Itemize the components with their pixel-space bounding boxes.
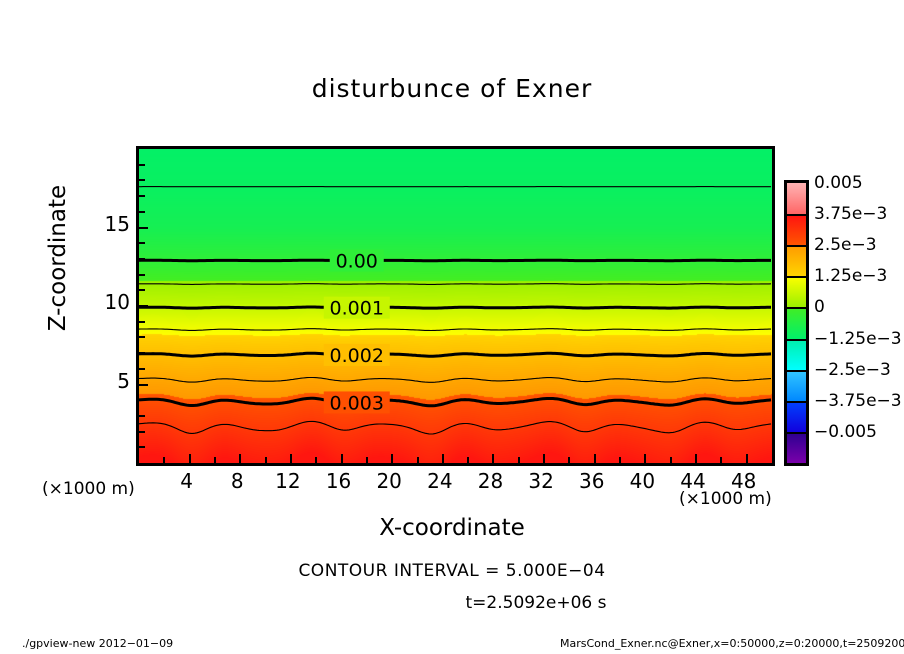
y-axis-minor-tick [139, 352, 145, 354]
y-axis-minor-tick [139, 274, 145, 276]
contour-line [139, 329, 771, 331]
colorbar-band-divider [787, 307, 806, 309]
page-title: disturbunce of Exner [0, 74, 904, 103]
x-axis-title: X-coordinate [0, 515, 904, 541]
y-axis-minor-tick [139, 399, 145, 401]
colorbar-band [787, 432, 806, 463]
x-axis-minor-tick [214, 457, 216, 463]
x-axis-minor-tick [467, 457, 469, 463]
colorbar-tick-label: −1.25e−3 [814, 329, 902, 349]
x-axis-tick [442, 454, 444, 463]
x-axis-minor-tick [568, 457, 570, 463]
x-axis-tick [290, 454, 292, 463]
x-axis-tick [594, 454, 596, 463]
contour-line [139, 284, 771, 285]
colorbar-band [787, 245, 806, 276]
x-axis-minor-tick [315, 457, 317, 463]
colorbar-band [787, 401, 806, 432]
contour-line [139, 378, 771, 383]
x-axis-tick [239, 454, 241, 463]
contour-label: 0.002 [330, 345, 384, 367]
x-axis-tick [391, 454, 393, 463]
x-axis-minor-tick [670, 457, 672, 463]
x-axis-minor-tick [265, 457, 267, 463]
y-axis-tick [139, 384, 148, 386]
y-axis-minor-tick [139, 164, 145, 166]
y-axis-minor-tick [139, 368, 145, 370]
y-axis-minor-tick [139, 336, 145, 338]
y-axis-title: Z-coordinate [45, 158, 71, 358]
colorbar-band [787, 307, 806, 338]
colorbar-band [787, 276, 806, 307]
colorbar-tick-label: 2.5e−3 [814, 235, 877, 255]
colorbar-band-divider [787, 370, 806, 372]
contour-line [139, 421, 771, 434]
contour-label: 0.003 [330, 392, 384, 414]
y-axis-minor-tick [139, 321, 145, 323]
contour-label: 0.00 [336, 251, 378, 273]
x-axis-tick [746, 454, 748, 463]
x-axis-tick [644, 454, 646, 463]
y-axis-minor-tick [139, 415, 145, 417]
x-axis-minor-tick [417, 457, 419, 463]
x-axis-tick [695, 454, 697, 463]
colorbar-tick-label: 3.75e−3 [814, 204, 887, 224]
x-axis-minor-tick [720, 457, 722, 463]
colorbar [784, 180, 809, 466]
contour-lines-overlay: 0.000.0010.0020.003 [139, 149, 772, 463]
y-axis-tick-label: 15 [96, 212, 130, 236]
y-axis-minor-tick [139, 179, 145, 181]
contour-line [139, 353, 771, 356]
x-unit-right-label: (×1000 m) [679, 489, 772, 509]
y-axis-minor-tick [139, 289, 145, 291]
y-axis-minor-tick [139, 242, 145, 244]
x-axis-tick [341, 454, 343, 463]
time-annotation: t=2.5092e+06 s [0, 593, 904, 613]
x-axis-minor-tick [163, 457, 165, 463]
y-axis-minor-tick [139, 211, 145, 213]
x-axis-tick [492, 454, 494, 463]
contour-line [139, 260, 771, 261]
x-axis-tick [543, 454, 545, 463]
y-axis-tick-label: 5 [96, 369, 130, 393]
contour-label: 0.001 [330, 298, 384, 320]
contour-interval-note: CONTOUR INTERVAL = 5.000E−04 [0, 561, 904, 581]
colorbar-tick-label: −3.75e−3 [814, 391, 902, 411]
y-axis-minor-tick [139, 258, 145, 260]
x-axis-minor-tick [366, 457, 368, 463]
footer-command-label: ./gpview-new 2012−01−09 [22, 637, 173, 650]
y-axis-minor-tick [139, 195, 145, 197]
x-unit-left-label: (×1000 m) [42, 479, 135, 499]
y-axis-tick-label: 10 [96, 290, 130, 314]
colorbar-tick-label: 0.005 [814, 173, 863, 193]
colorbar-tick-label: 0 [814, 297, 825, 317]
colorbar-tick-label: −0.005 [814, 422, 877, 442]
y-axis-tick [139, 305, 148, 307]
colorbar-band [787, 370, 806, 401]
x-axis-minor-tick [518, 457, 520, 463]
contour-line [139, 307, 771, 308]
colorbar-band-divider [787, 214, 806, 216]
colorbar-tick-label: −2.5e−3 [814, 360, 891, 380]
y-axis-tick [139, 227, 148, 229]
x-axis-tick [189, 454, 191, 463]
x-axis-minor-tick [619, 457, 621, 463]
colorbar-band [787, 339, 806, 370]
colorbar-band-divider [787, 276, 806, 278]
plot-page: disturbunce of Exner 0.000.0010.0020.003… [0, 0, 904, 654]
y-axis-minor-tick [139, 431, 145, 433]
colorbar-band-divider [787, 339, 806, 341]
colorbar-band [787, 183, 806, 214]
colorbar-band-divider [787, 401, 806, 403]
colorbar-band-divider [787, 432, 806, 434]
colorbar-band-divider [787, 245, 806, 247]
y-axis-minor-tick [139, 446, 145, 448]
colorbar-tick-label: 1.25e−3 [814, 266, 887, 286]
colorbar-band [787, 214, 806, 245]
footer-source-label: MarsCond_Exner.nc@Exner,x=0:50000,z=0:20… [560, 637, 904, 650]
contour-plot-area: 0.000.0010.0020.003 [136, 146, 775, 466]
contour-line [139, 398, 771, 406]
